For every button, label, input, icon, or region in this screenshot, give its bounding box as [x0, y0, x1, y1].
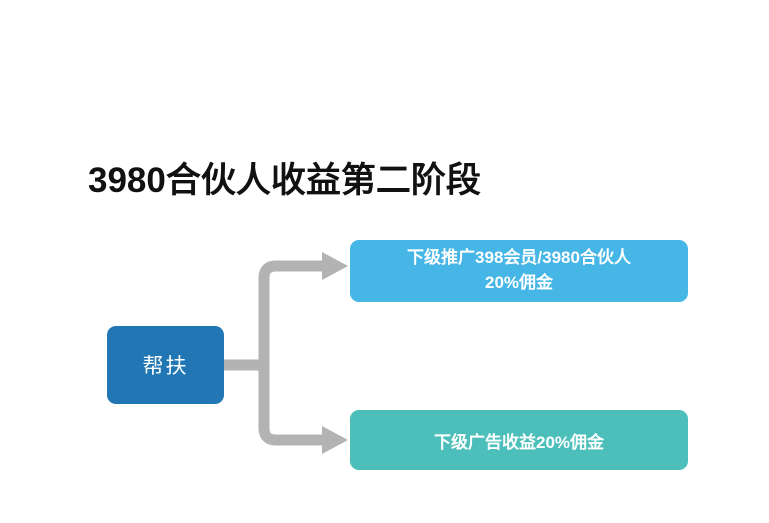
- node-branch-ad-revenue-label: 下级广告收益20%佣金: [434, 428, 604, 453]
- node-branch-ad-revenue[interactable]: 下级广告收益20%佣金: [350, 410, 688, 470]
- node-root[interactable]: 帮扶: [107, 326, 224, 404]
- arrowhead-lower: [322, 426, 348, 454]
- page-title: 3980合伙人收益第二阶段: [88, 162, 481, 201]
- node-branch-commission-line1: 下级推广398会员/3980合伙人: [407, 246, 631, 271]
- slide-canvas: 3980合伙人收益第二阶段 帮扶 下级推广398会员/3980合伙人 20%佣金…: [0, 0, 769, 523]
- node-branch-commission-line2: 20%佣金: [407, 271, 631, 296]
- node-branch-commission[interactable]: 下级推广398会员/3980合伙人 20%佣金: [350, 240, 688, 302]
- node-root-label: 帮扶: [143, 350, 189, 380]
- arrowhead-upper: [322, 252, 348, 280]
